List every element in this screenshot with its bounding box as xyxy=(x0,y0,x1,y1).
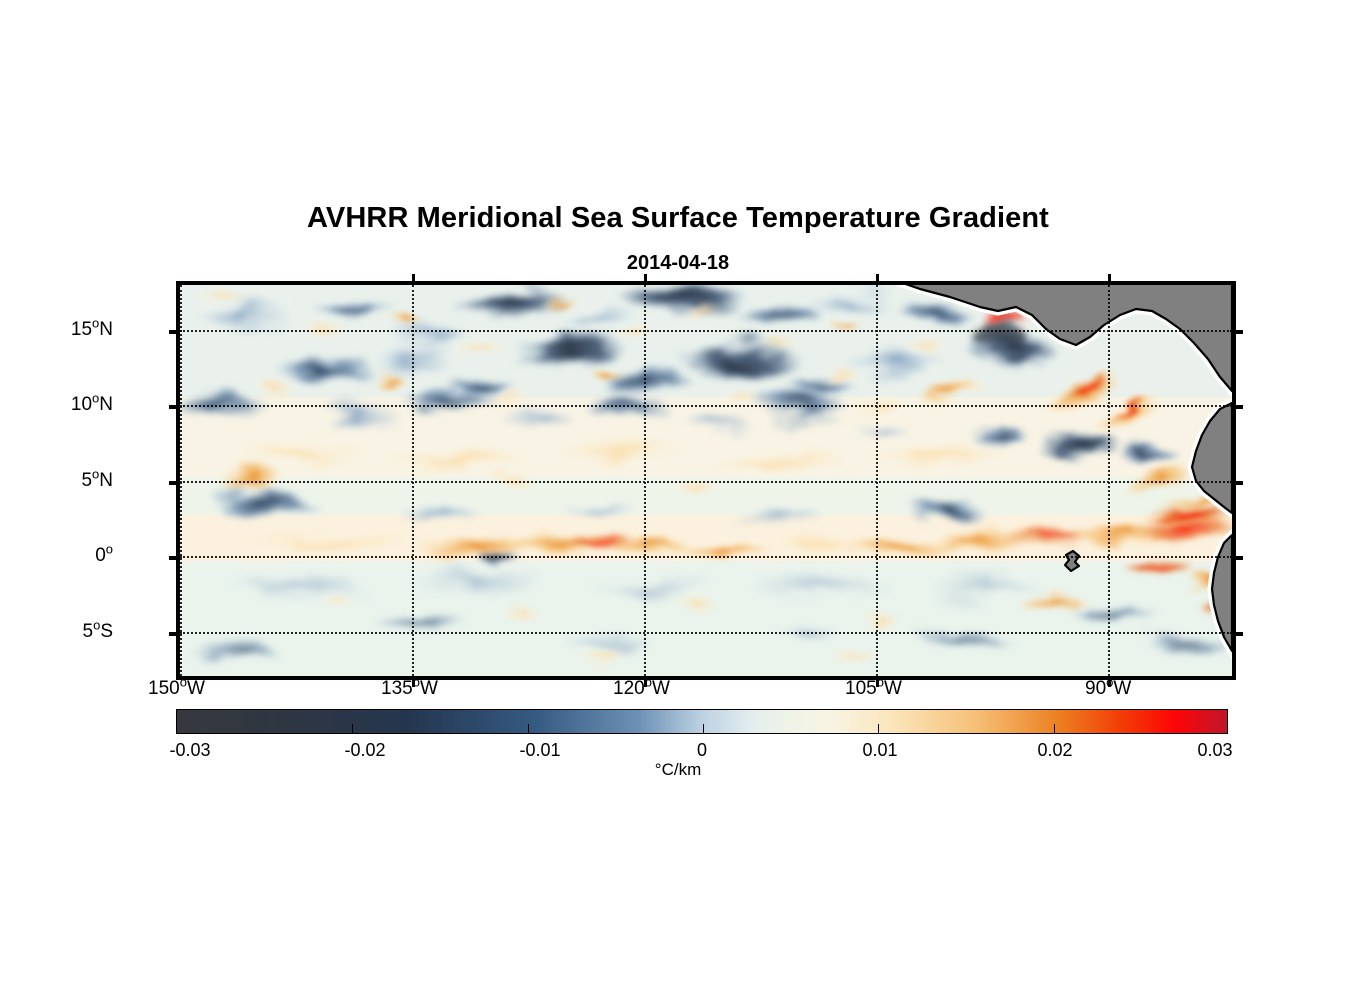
ytick-label-5n: 5oN xyxy=(81,470,113,492)
cbtick--0.02 xyxy=(352,724,353,733)
ytick-label-15n: 15oN xyxy=(71,319,113,341)
gridline-lat-0 xyxy=(180,556,1232,558)
cb-label-2: -0.01 xyxy=(519,740,560,761)
gridline-lat-15n xyxy=(180,330,1232,332)
cb-label-6: 0.03 xyxy=(1197,740,1232,761)
ytick-15n xyxy=(169,330,180,334)
xtick-top-90w xyxy=(1108,274,1111,285)
gridline-lon-105w xyxy=(876,285,878,676)
xtick-label-90w: 90oW xyxy=(1085,678,1131,700)
cb-label-4: 0.01 xyxy=(862,740,897,761)
ytick-right-15n xyxy=(1232,330,1243,334)
cbtick-0.02 xyxy=(1054,724,1055,733)
xtick-top-120w xyxy=(644,274,647,285)
figure-title: AVHRR Meridional Sea Surface Temperature… xyxy=(0,202,1356,235)
gridline-lon-120w xyxy=(644,285,646,676)
gridline-lon-135w xyxy=(412,285,414,676)
cbtick-0.01 xyxy=(878,724,879,733)
ytick-label-0: 0o xyxy=(95,545,113,567)
galapagos-island xyxy=(1065,551,1079,571)
ytick-right-0 xyxy=(1232,556,1243,560)
cbtick-0 xyxy=(703,724,704,733)
colorbar[interactable] xyxy=(176,709,1228,734)
xtick-label-150w: 150oW xyxy=(148,678,205,700)
gridline-lat-5n xyxy=(180,481,1232,483)
xtick-label-105w: 105oW xyxy=(845,678,902,700)
ytick-right-5s xyxy=(1232,632,1243,636)
cb-label-5: 0.02 xyxy=(1037,740,1072,761)
colorbar-gradient xyxy=(177,710,1227,733)
ytick-right-10n xyxy=(1232,405,1243,409)
figure-subtitle: 2014-04-18 xyxy=(0,252,1356,275)
gridline-lat-10n xyxy=(180,405,1232,407)
ytick-right-5n xyxy=(1232,481,1243,485)
cb-label-0: -0.03 xyxy=(169,740,210,761)
ytick-5s xyxy=(169,632,180,636)
map-plot-area xyxy=(176,281,1236,680)
gridline-lon-150w xyxy=(180,285,182,676)
xtick-top-135w xyxy=(412,274,415,285)
xtick-top-105w xyxy=(876,274,879,285)
figure-canvas: AVHRR Meridional Sea Surface Temperature… xyxy=(0,0,1356,1000)
cb-label-1: -0.02 xyxy=(344,740,385,761)
ytick-label-5s: 5oS xyxy=(83,621,114,643)
cb-label-3: 0 xyxy=(697,740,707,761)
ytick-0 xyxy=(169,556,180,560)
ytick-5n xyxy=(169,481,180,485)
ytick-10n xyxy=(169,405,180,409)
ytick-label-10n: 10oN xyxy=(71,394,113,416)
gridline-lat-5s xyxy=(180,632,1232,634)
colorbar-unit-label: °C/km xyxy=(0,760,1356,780)
cbtick--0.01 xyxy=(528,724,529,733)
xtick-label-120w: 120oW xyxy=(613,678,670,700)
gridline-lon-90w xyxy=(1108,285,1110,676)
xtick-label-135w: 135oW xyxy=(381,678,438,700)
